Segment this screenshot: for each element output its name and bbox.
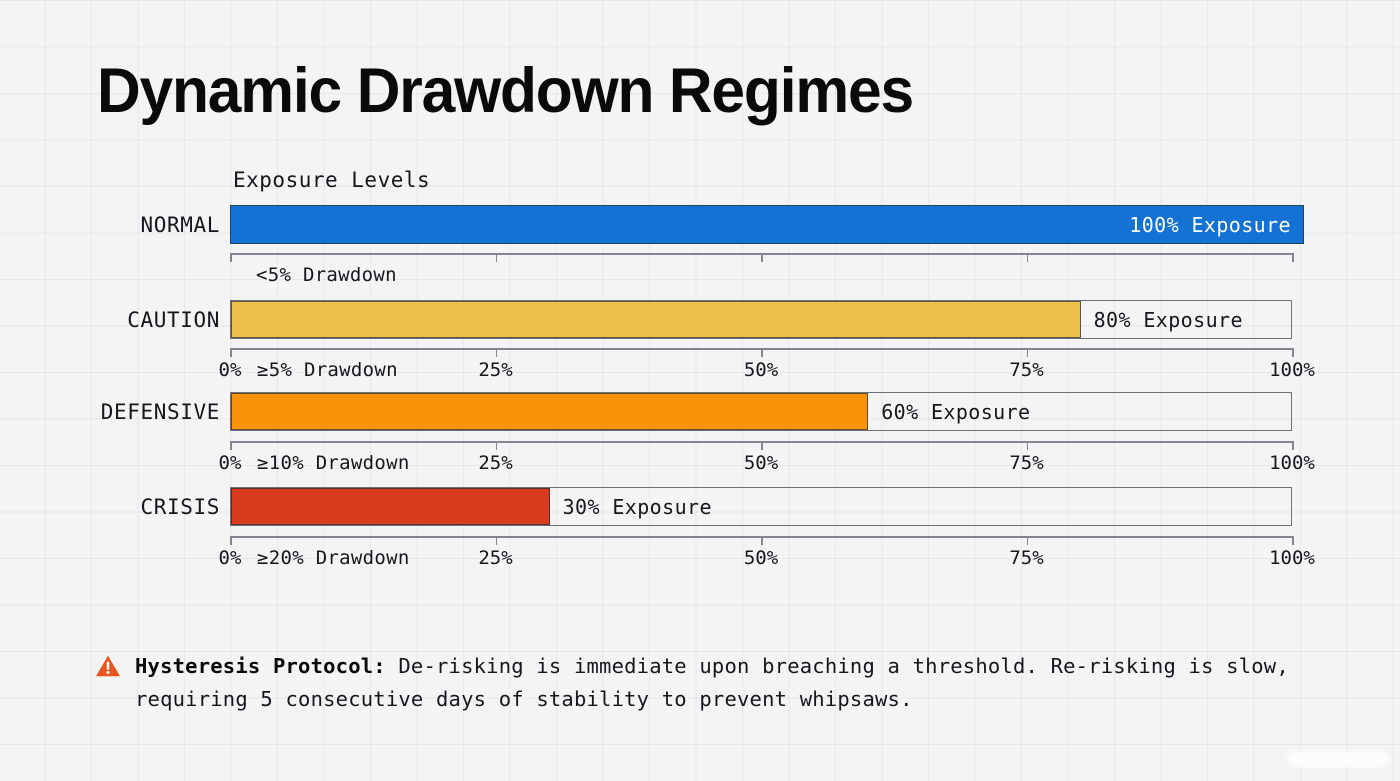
axis-defensive: 0%25%50%75%100%≥10% Drawdown [230,441,1292,442]
axis-tick-label: 75% [1009,452,1043,474]
axis-tick [496,253,498,262]
slide-canvas: Dynamic Drawdown Regimes Exposure Levels… [0,0,1400,781]
axis-tick-label: 50% [744,359,778,381]
axis-tick-label: 75% [1009,359,1043,381]
bar-value-defensive: 60% Exposure [881,400,1030,424]
axis-tick [761,536,763,545]
axis-tick [496,348,498,357]
bar-track-caution[interactable]: 80% Exposure [230,300,1292,339]
bar-value-caution: 80% Exposure [1094,308,1243,332]
axis-tick [230,348,232,357]
axis-tick-label: 25% [478,452,512,474]
axis-tick [761,348,763,357]
axis-tick-label: 100% [1269,452,1315,474]
axis-tick-label: 0% [219,547,242,569]
axis-tick-label: 50% [744,547,778,569]
axis-tick [496,441,498,450]
regime-label-crisis: CRISIS [0,495,220,519]
regime-label-normal: NORMAL [0,213,220,237]
axis-crisis: 0%25%50%75%100%≥20% Drawdown [230,536,1292,537]
bar-fill-normal: 100% Exposure [230,205,1304,244]
corner-artifact [1287,751,1389,767]
bar-value-normal: 100% Exposure [1129,213,1291,237]
axis-tick [1027,536,1029,545]
regime-label-caution: CAUTION [0,308,220,332]
axis-tick [230,441,232,450]
axis-tick-label: 25% [478,359,512,381]
axis-normal: <5% Drawdown [230,253,1292,254]
axis-tick [1292,253,1294,262]
drawdown-label-caution: ≥5% Drawdown [257,359,398,381]
page-title: Dynamic Drawdown Regimes [97,55,913,127]
regime-label-defensive: DEFENSIVE [0,400,220,424]
axis-tick [761,253,763,262]
axis-tick [496,536,498,545]
axis-tick-label: 0% [219,452,242,474]
chart-subtitle: Exposure Levels [233,168,430,192]
axis-tick [1292,441,1294,450]
footer-note: Hysteresis Protocol: De-risking is immed… [95,650,1325,716]
axis-tick-label: 50% [744,452,778,474]
footer-lead-label: Hysteresis Protocol: [135,654,386,678]
axis-caution: 0%25%50%75%100%≥5% Drawdown [230,348,1292,349]
drawdown-label-normal: <5% Drawdown [256,264,397,286]
drawdown-label-crisis: ≥20% Drawdown [257,547,410,569]
bar-track-defensive[interactable]: 60% Exposure [230,392,1292,431]
axis-tick [230,253,232,262]
axis-tick-label: 100% [1269,359,1315,381]
axis-tick [1292,348,1294,357]
bar-fill-crisis [231,488,550,525]
axis-tick-label: 75% [1009,547,1043,569]
bar-fill-caution [231,301,1081,338]
axis-tick-label: 100% [1269,547,1315,569]
axis-tick [1292,536,1294,545]
footer-text: Hysteresis Protocol: De-risking is immed… [135,650,1325,716]
axis-tick-label: 0% [219,359,242,381]
drawdown-label-defensive: ≥10% Drawdown [257,452,410,474]
axis-tick-label: 25% [478,547,512,569]
axis-tick [1027,253,1029,262]
axis-tick [1027,348,1029,357]
axis-tick [761,441,763,450]
bar-value-crisis: 30% Exposure [563,495,712,519]
warning-triangle-icon [95,654,121,682]
bar-fill-defensive [231,393,868,430]
axis-tick [1027,441,1029,450]
bar-track-normal[interactable]: 100% Exposure [230,205,1292,244]
bar-track-crisis[interactable]: 30% Exposure [230,487,1292,526]
axis-tick [230,536,232,545]
